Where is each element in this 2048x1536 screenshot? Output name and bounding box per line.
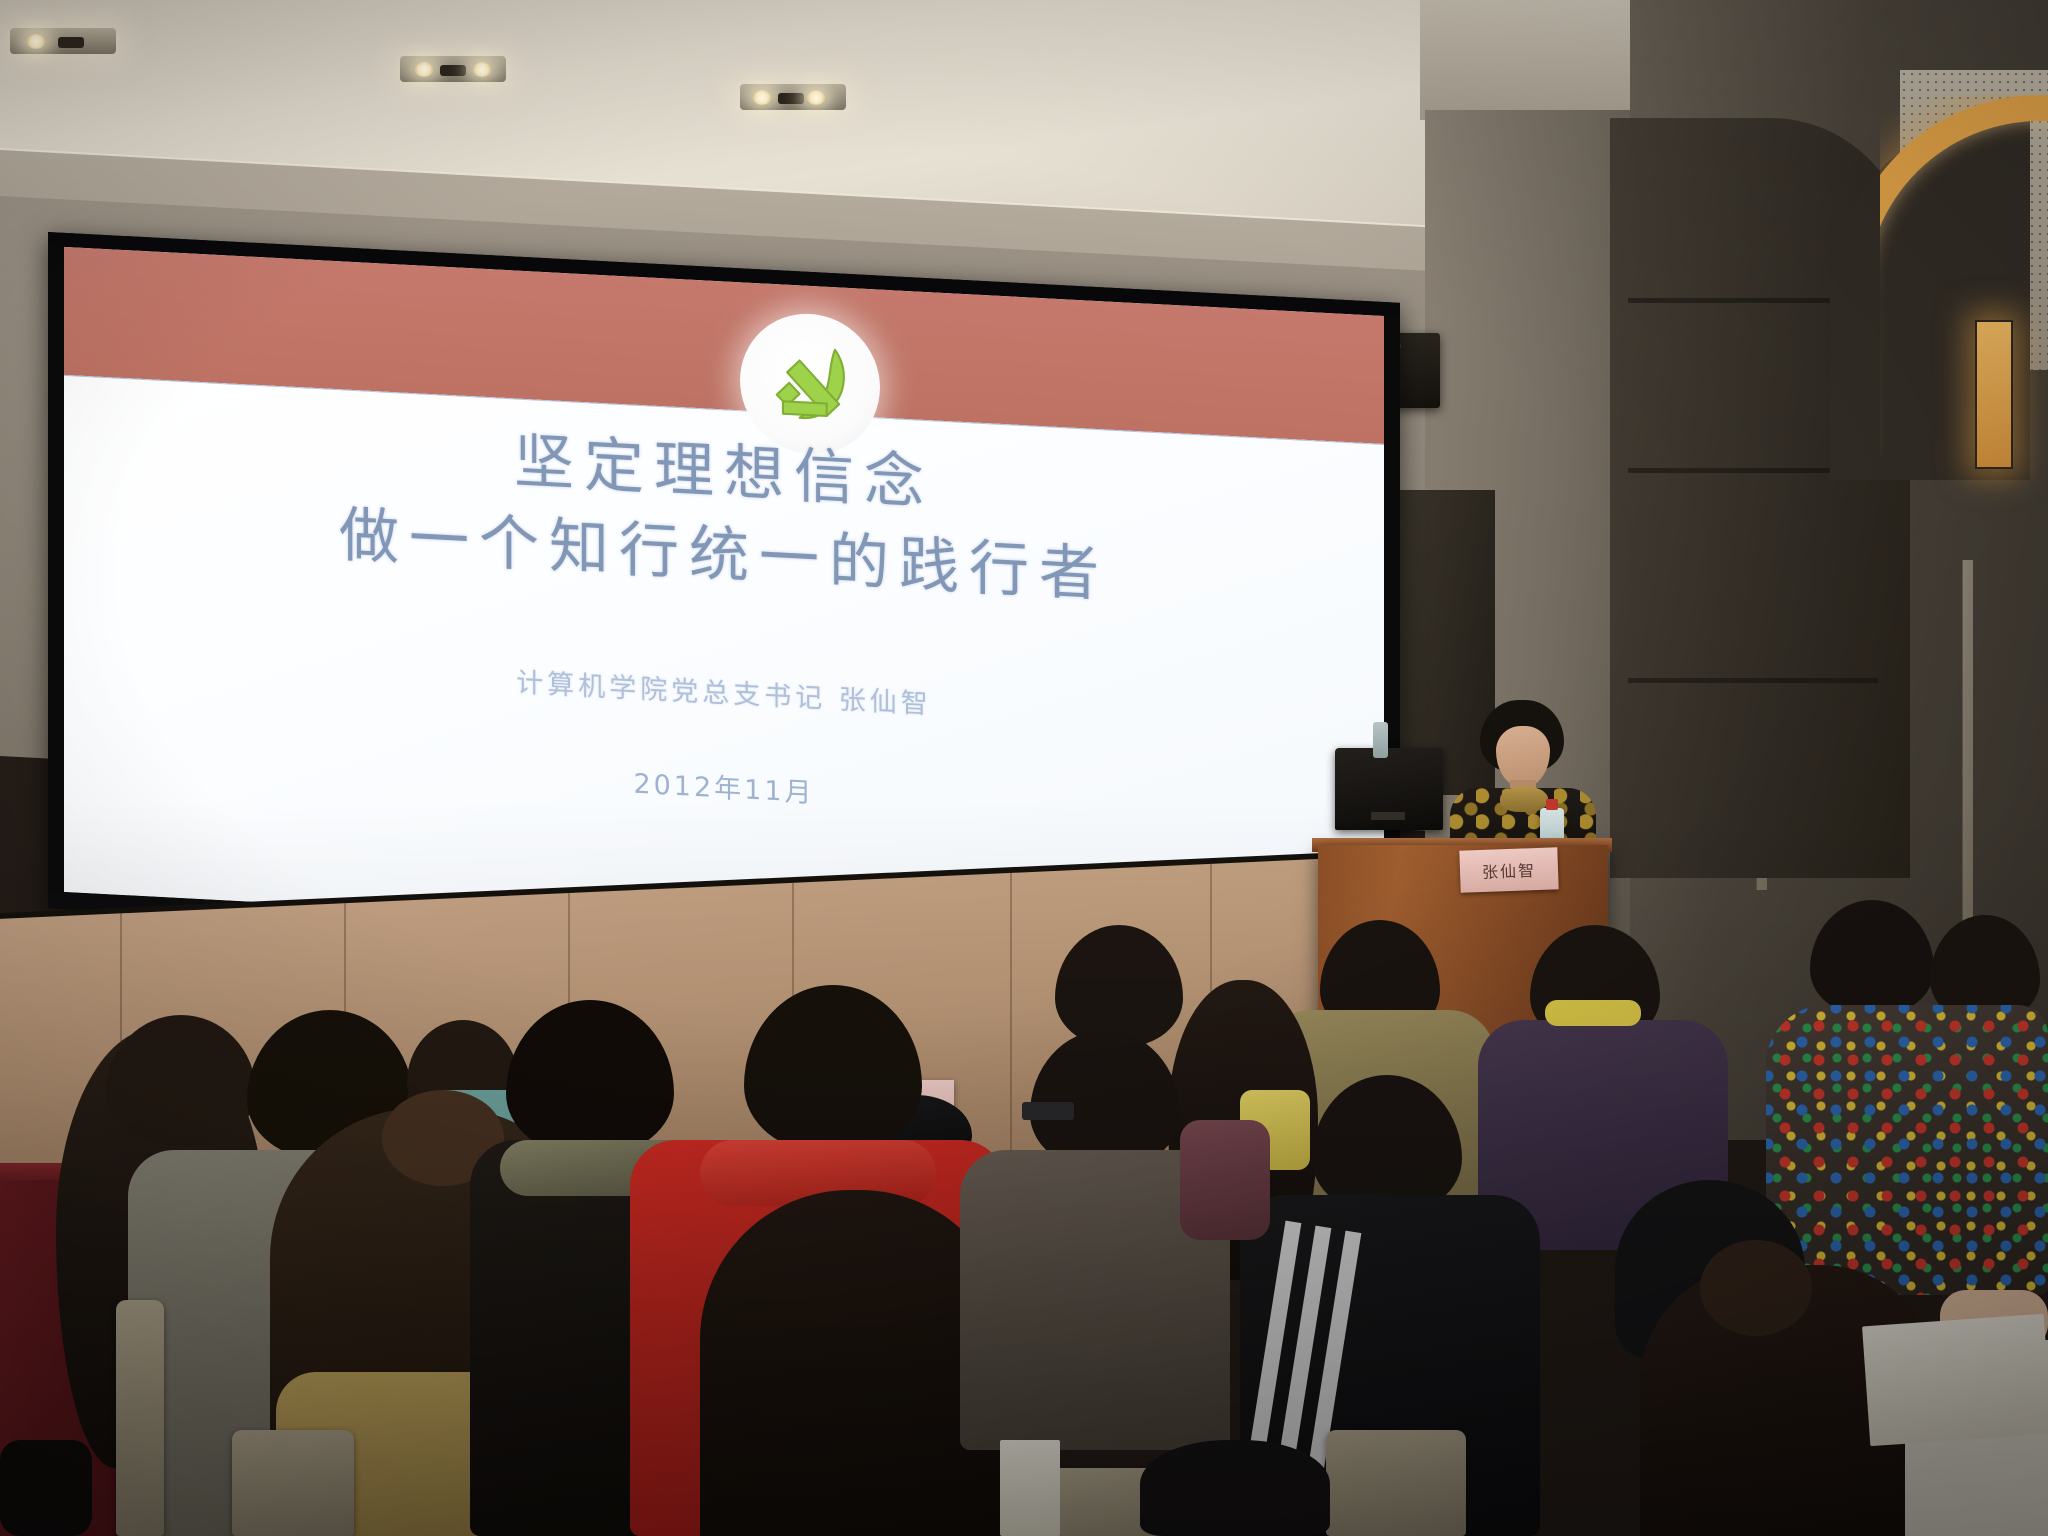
eyeglasses-icon xyxy=(1022,1102,1074,1120)
audience-paper-right xyxy=(1862,1314,2048,1446)
podium-water-bottle xyxy=(1373,722,1388,758)
wall-light-strip xyxy=(1975,320,2013,469)
podium-name-card: 张仙智 xyxy=(1459,847,1558,892)
presenter-face xyxy=(1496,726,1550,788)
chair-right-seat xyxy=(1326,1430,1466,1536)
audience-hair-bun xyxy=(1700,1240,1812,1336)
lecture-hall-scene: 坚定理想信念 做一个知行统一的践行者 计算机学院党总支书记 张仙智 2012年1… xyxy=(0,0,2048,1536)
paper-centre xyxy=(1000,1440,1060,1536)
ceiling-spotlight-2-icon xyxy=(400,56,506,82)
presentation-slide: 坚定理想信念 做一个知行统一的践行者 计算机学院党总支书记 张仙智 2012年1… xyxy=(64,247,1384,961)
slide-credit: 计算机学院党总支书记 张仙智 xyxy=(64,636,1384,744)
chair-foreground-left xyxy=(0,1440,92,1536)
audience-patterned-jacket xyxy=(1766,1005,2048,1295)
audience-yellow-collar xyxy=(1545,1000,1641,1026)
ceiling-spotlight-1-icon xyxy=(10,28,116,54)
chair-left-seat xyxy=(232,1430,354,1536)
chair-left xyxy=(116,1300,164,1536)
slide-text-block: 坚定理想信念 做一个知行统一的践行者 计算机学院党总支书记 张仙智 2012年1… xyxy=(64,397,1384,840)
podium-laptop xyxy=(1335,748,1443,830)
audience-maroon-jacket xyxy=(1180,1120,1270,1240)
arch-light-trim xyxy=(1880,95,2048,455)
ceiling-spotlight-3-icon xyxy=(740,84,846,110)
chair-dark-back xyxy=(1140,1440,1330,1536)
